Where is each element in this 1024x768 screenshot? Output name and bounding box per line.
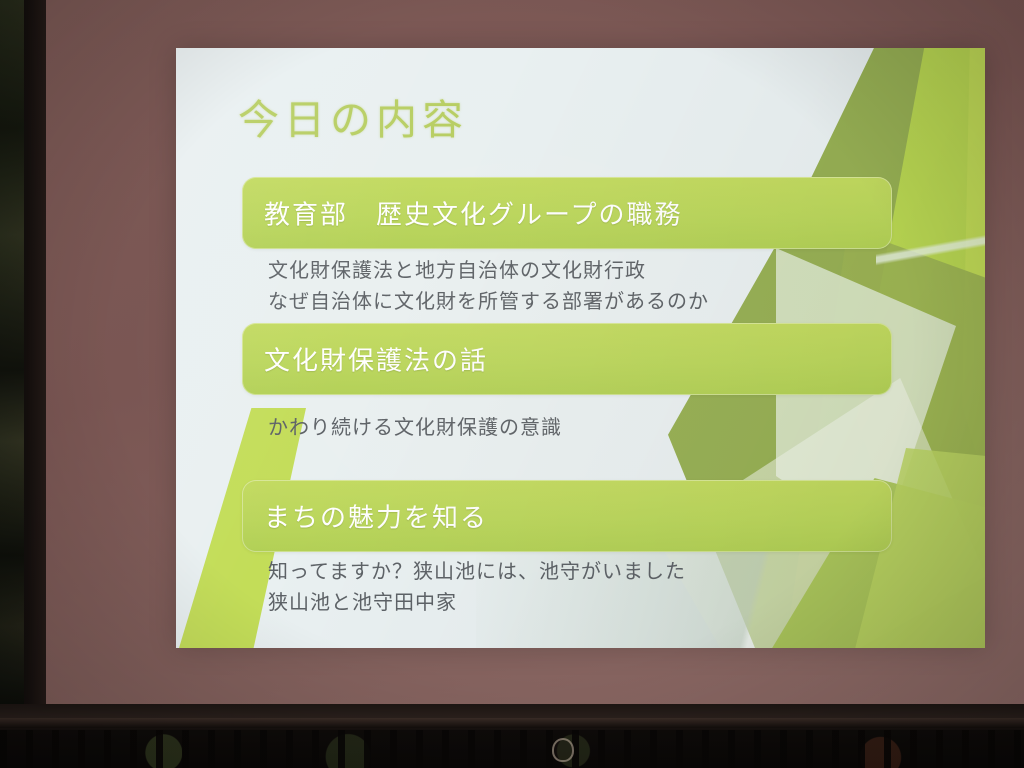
section-bar-1: 教育部 歴史文化グループの職務 [242, 177, 892, 249]
section-details-3: 知ってますか？狭山池には、池守がいました 狭山池と池守田中家 [268, 556, 686, 618]
section-details-1: 文化財保護法と地方自治体の文化財行政 なぜ自治体に文化財を所管する部署があるのか [268, 255, 709, 317]
railing-knob [552, 738, 574, 762]
section-heading-1: 教育部 歴史文化グループの職務 [264, 195, 682, 232]
detail-line: かわり続ける文化財保護の意識 [268, 412, 562, 443]
detail-line: なぜ自治体に文化財を所管する部署があるのか [268, 286, 709, 317]
detail-line: 知ってますか？狭山池には、池守がいました [268, 556, 686, 587]
railing-bars [0, 730, 1024, 768]
projection-scene: 今日の内容 教育部 歴史文化グループの職務 文化財保護法と地方自治体の文化財行政… [0, 0, 1024, 768]
section-bar-3: まちの魅力を知る [242, 480, 892, 552]
section-heading-3: まちの魅力を知る [264, 498, 488, 535]
section-bar-2: 文化財保護法の話 [242, 323, 892, 395]
presentation-slide: 今日の内容 教育部 歴史文化グループの職務 文化財保護法と地方自治体の文化財行政… [176, 48, 985, 648]
screen-rail-lip [0, 718, 1024, 728]
section-details-2: かわり続ける文化財保護の意識 [268, 412, 562, 443]
decor-edge-line [876, 48, 985, 458]
detail-line: 文化財保護法と地方自治体の文化財行政 [268, 255, 709, 286]
detail-line: 狭山池と池守田中家 [268, 587, 686, 618]
room-left-foliage [0, 0, 24, 712]
slide-title: 今日の内容 [238, 86, 468, 146]
section-heading-2: 文化財保護法の話 [264, 341, 488, 378]
